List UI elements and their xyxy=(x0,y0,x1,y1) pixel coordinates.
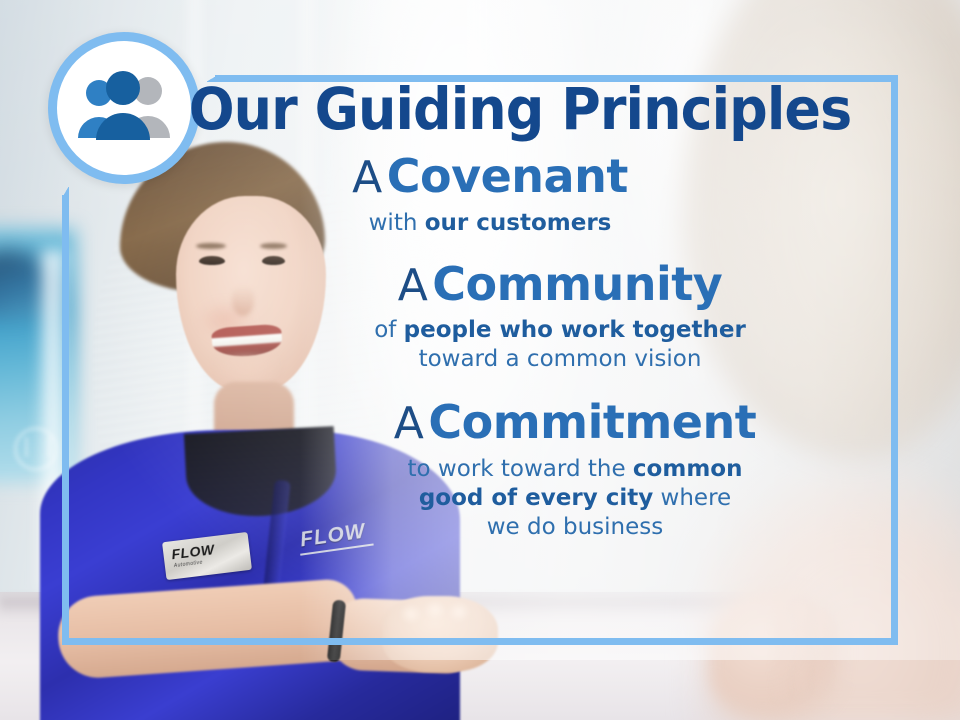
principle-subtitle: to work toward the common good of every … xyxy=(260,455,890,542)
text-column: Our Guiding Principles A Covenant with o… xyxy=(150,80,890,546)
principle-article: A xyxy=(352,152,382,203)
subtitle-part: where xyxy=(653,485,731,511)
customer-finger xyxy=(794,604,808,698)
subtitle-part: toward a common vision xyxy=(419,346,702,372)
subtitle-part-strong: people who work together xyxy=(404,317,746,343)
subtitle-part: to work toward the xyxy=(408,456,633,482)
principle-keyword: Commitment xyxy=(428,395,756,449)
principle-commitment: A Commitment to work toward the common g… xyxy=(150,398,890,542)
subtitle-part-strong: our customers xyxy=(425,210,612,236)
subtitle-part: we do business xyxy=(487,514,664,540)
associate-knuckle xyxy=(448,602,470,622)
principle-subtitle: with our customers xyxy=(150,209,830,238)
principle-keyword: Community xyxy=(432,257,722,311)
page-title: Our Guiding Principles xyxy=(176,80,864,138)
principle-covenant: A Covenant with our customers xyxy=(150,152,890,238)
principle-subtitle: of people who work together toward a com… xyxy=(230,316,890,374)
principle-community: A Community of people who work together … xyxy=(150,260,890,375)
principle-keyword: Covenant xyxy=(387,149,628,203)
principle-article: A xyxy=(394,398,424,449)
principle-heading: A Covenant xyxy=(150,152,830,202)
associate-knuckle xyxy=(400,604,422,624)
subtitle-part: with xyxy=(369,210,425,236)
principle-article: A xyxy=(398,260,428,311)
customer-finger xyxy=(774,614,788,702)
guiding-principles-graphic: FLOW Automotive FLOW xyxy=(0,0,960,720)
customer-finger xyxy=(814,608,828,692)
associate-knuckle xyxy=(424,600,446,620)
subtitle-part: of xyxy=(374,317,403,343)
subtitle-part-strong: good of every city xyxy=(419,485,653,511)
subtitle-part-strong: common xyxy=(633,456,743,482)
principle-heading: A Community xyxy=(230,260,890,310)
principle-heading: A Commitment xyxy=(260,398,890,448)
